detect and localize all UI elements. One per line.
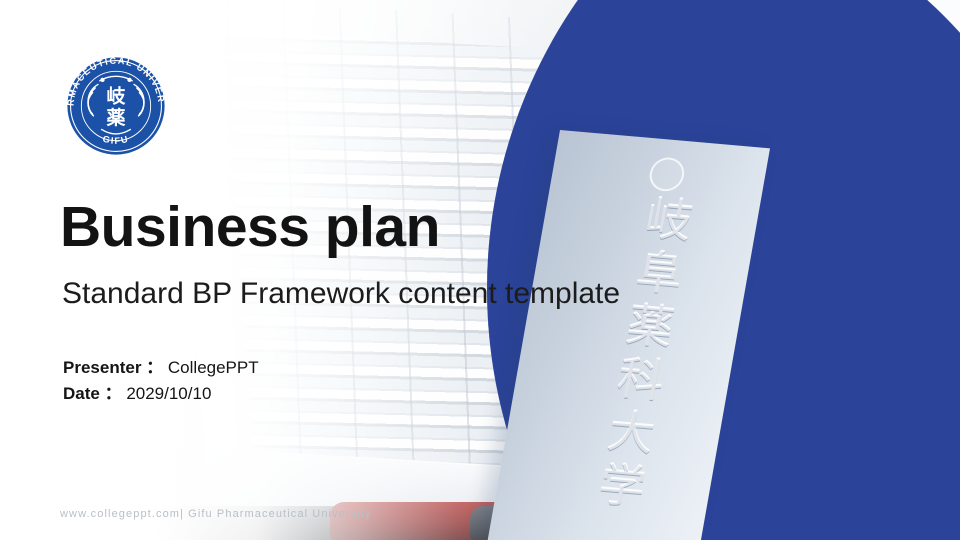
date-value: 2029/10/10 — [126, 384, 211, 403]
title-slide: 岐阜薬科大学 PHARMACEUTICAL UNIVERSITY GIFU — [0, 0, 960, 540]
monument-seal-emblem — [647, 156, 687, 192]
presenter-label: Presenter ： — [63, 358, 163, 377]
date-label: Date ： — [63, 384, 122, 403]
presenter-value: CollegePPT — [168, 358, 259, 377]
page-subtitle: Standard BP Framework content template — [62, 279, 620, 309]
slide-footer: www.collegeppt.com| Gifu Pharmaceutical … — [60, 508, 372, 520]
presentation-meta: Presenter ： CollegePPT Date ： 2029/10/10 — [63, 355, 259, 408]
presenter-row: Presenter ： CollegePPT — [63, 355, 259, 381]
university-seal-icon: PHARMACEUTICAL UNIVERSITY GIFU 岐 薬 — [62, 52, 170, 160]
monument-kanji-text: 岐阜薬科大学 — [572, 192, 698, 517]
page-title: Business plan — [60, 199, 440, 256]
date-row: Date ： 2029/10/10 — [63, 381, 259, 407]
svg-text:薬: 薬 — [107, 106, 126, 129]
svg-text:岐: 岐 — [107, 85, 126, 107]
